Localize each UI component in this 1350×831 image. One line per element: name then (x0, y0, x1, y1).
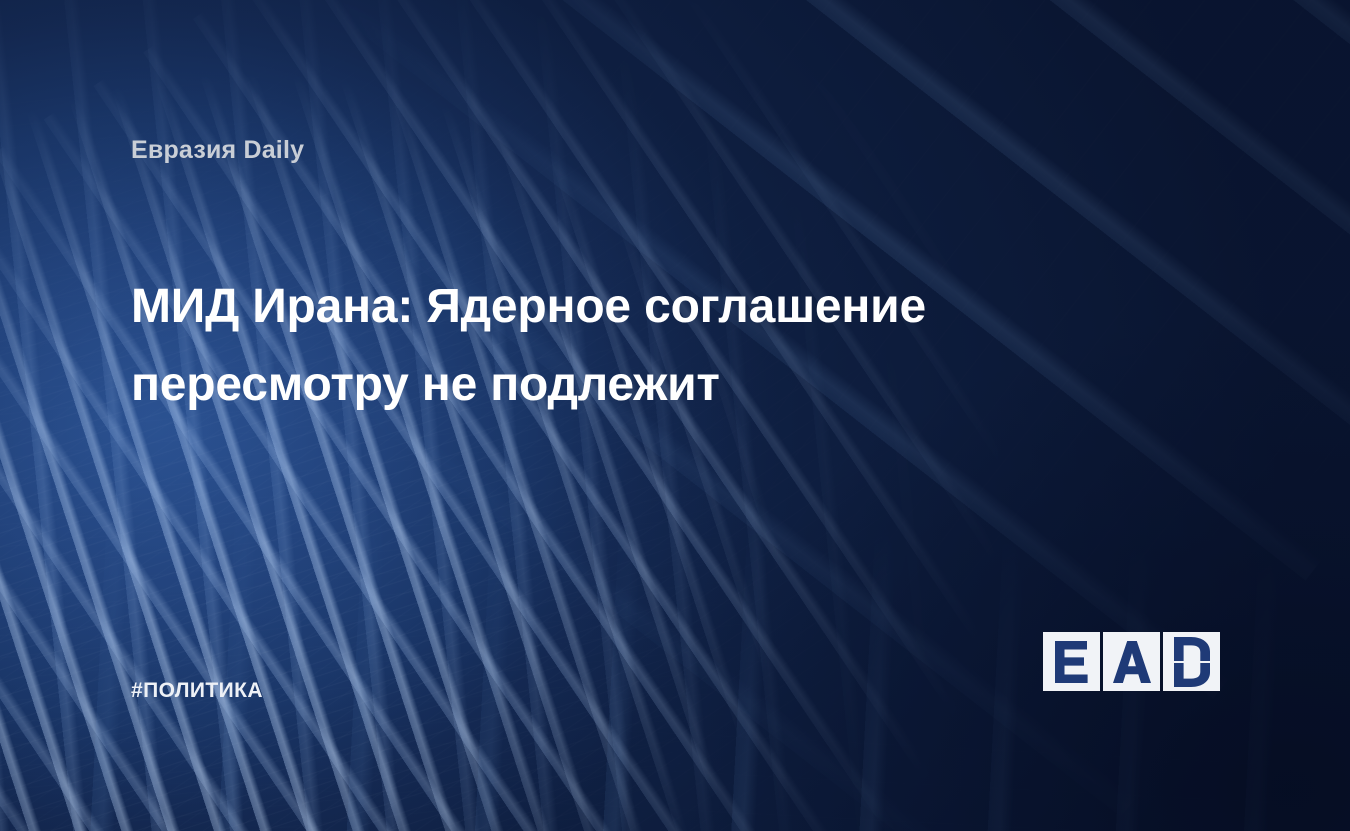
page-title: МИД Ирана: Ядерное соглашение пересмотру… (131, 268, 1061, 424)
letter-d-split-icon (1174, 637, 1210, 687)
letter-a-icon (1113, 641, 1151, 683)
logo-tile-e (1043, 632, 1100, 691)
site-name: Евразия Daily (131, 136, 304, 165)
category-tag-politics[interactable]: #ПОЛИТИКА (131, 679, 263, 703)
logo-tile-a (1103, 632, 1160, 691)
card-content: Евразия Daily МИД Ирана: Ядерное соглаше… (0, 0, 1350, 831)
news-cover-card: Евразия Daily МИД Ирана: Ядерное соглаше… (0, 0, 1350, 831)
ead-logo[interactable] (1043, 632, 1220, 691)
logo-tile-d (1163, 632, 1220, 691)
letter-e-icon (1055, 641, 1089, 683)
